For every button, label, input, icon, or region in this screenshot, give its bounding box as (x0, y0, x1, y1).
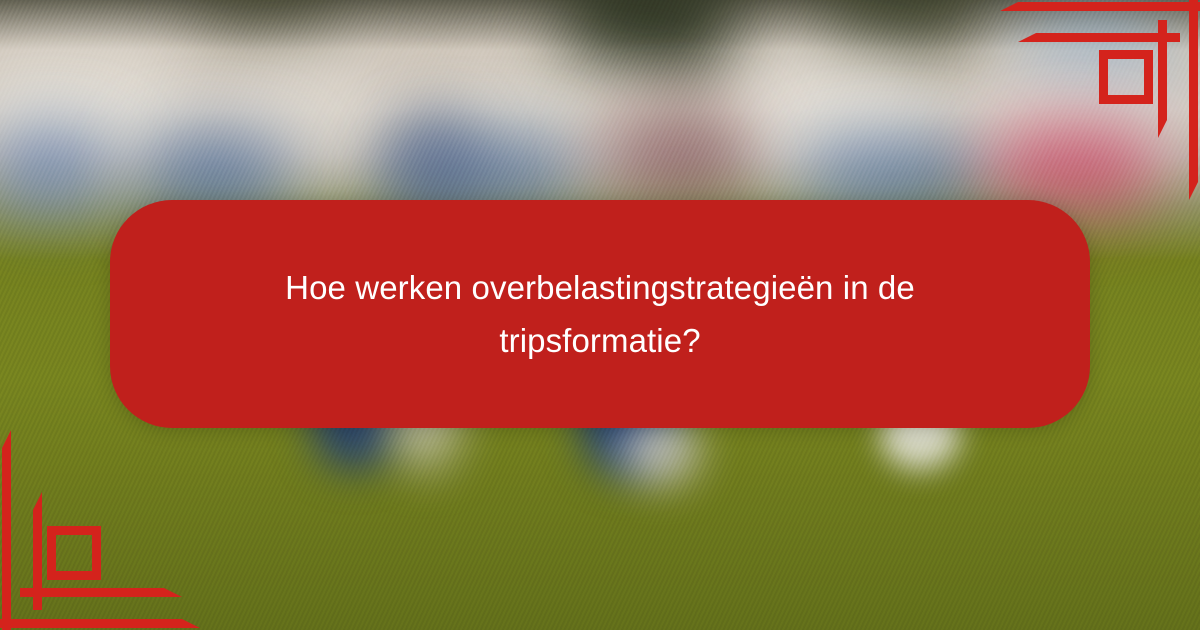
page-title: Hoe werken overbelastingstrategieën in d… (185, 261, 1015, 368)
bracket-square-detail (47, 526, 101, 580)
bracket-line-vertical-outer (2, 430, 11, 630)
bracket-line-horizontal-inner (1018, 33, 1180, 42)
corner-bracket-top-right-icon (990, 0, 1200, 210)
social-card-canvas: Hoe werken overbelastingstrategieën in d… (0, 0, 1200, 630)
bracket-square-detail (1099, 50, 1153, 104)
bracket-line-vertical-outer (1189, 0, 1198, 200)
corner-bracket-bottom-left-icon (0, 420, 210, 630)
headline-card: Hoe werken overbelastingstrategieën in d… (110, 200, 1090, 428)
bracket-line-horizontal-outer (0, 619, 200, 628)
bracket-line-vertical-inner (33, 492, 42, 610)
bracket-line-vertical-inner (1158, 20, 1167, 138)
bracket-line-horizontal-inner (20, 588, 182, 597)
bracket-line-horizontal-outer (1000, 2, 1200, 11)
